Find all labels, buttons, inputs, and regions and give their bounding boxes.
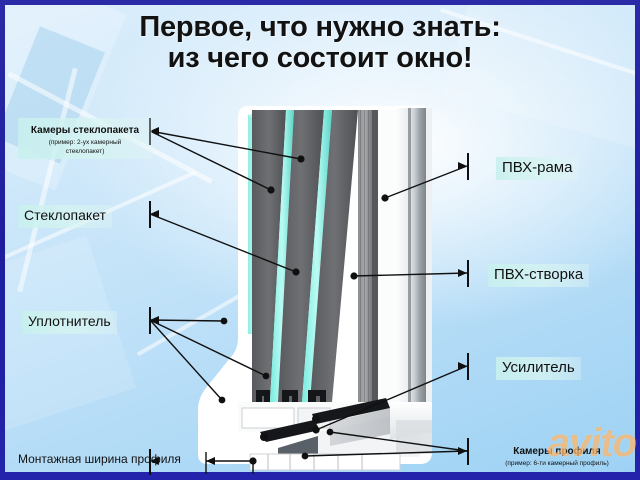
tick-bar-glass-unit: [149, 201, 151, 228]
label-glass-unit: Стеклопакет: [18, 205, 112, 228]
content-panel: Первое, что нужно знать: из чего состоит…: [5, 5, 635, 472]
frame-side-shade: [396, 420, 432, 454]
sash-inner-face: [378, 110, 396, 402]
tick-bar-seal: [149, 307, 151, 334]
label-pvc-sash: ПВХ-створка: [488, 264, 589, 287]
profile-chambers-row: [250, 454, 400, 470]
screenshot-root: Первое, что нужно знать: из чего состоит…: [0, 0, 640, 480]
label-mounting-width: Монтажная ширина профиля: [18, 450, 181, 468]
label-mounting-width-text: Монтажная ширина профиля: [18, 452, 181, 466]
label-glass-unit-chambers-sub1: (пример: 2-ух камерный: [24, 139, 146, 148]
sash-groove-line: [408, 108, 411, 420]
glass-edge-seal: [372, 110, 378, 402]
label-seal: Уплотнитель: [22, 311, 117, 334]
label-glass-unit-chambers: Камеры стеклопакета (пример: 2-ух камерн…: [18, 118, 152, 159]
sash-chamber-1: [242, 408, 294, 428]
window-cross-section-diagram: [190, 102, 440, 472]
label-reinforcement: Усилитель: [496, 357, 581, 380]
tick-bar-sash: [467, 260, 469, 287]
label-glass-unit-chambers-sub2: стеклопакет): [24, 148, 146, 157]
pvc-frame-outer-face: [426, 108, 432, 420]
label-profile-chambers-sub1: (пример: 6-ти камерный профиль): [482, 460, 632, 469]
page-title: Первое, что нужно знать: из чего состоит…: [5, 12, 635, 74]
background-pane-shape: [5, 236, 136, 435]
label-pvc-frame-text: ПВХ-рама: [502, 159, 572, 176]
label-profile-chambers-title: Камеры профиля: [513, 446, 601, 457]
label-profile-chambers: Камеры профиля (пример: 6-ти камерный пр…: [482, 441, 632, 469]
window-svg: [190, 102, 440, 472]
tick-bar-profile-chambers: [467, 438, 469, 465]
title-line-1: Первое, что нужно знать:: [139, 11, 500, 43]
label-reinforcement-text: Усилитель: [502, 359, 575, 376]
tick-bar-reinforcement: [467, 353, 469, 380]
label-glass-unit-chambers-title: Камеры стеклопакета: [31, 125, 139, 136]
label-seal-text: Уплотнитель: [28, 313, 111, 329]
label-glass-unit-text: Стеклопакет: [24, 207, 106, 223]
seal-end-1: [260, 433, 268, 441]
label-pvc-frame: ПВХ-рама: [496, 157, 578, 180]
tick-bar-frame: [467, 153, 469, 180]
label-pvc-sash-text: ПВХ-створка: [494, 266, 583, 283]
title-line-2: из чего состоит окно!: [5, 43, 635, 74]
seal-end-2: [312, 415, 320, 423]
